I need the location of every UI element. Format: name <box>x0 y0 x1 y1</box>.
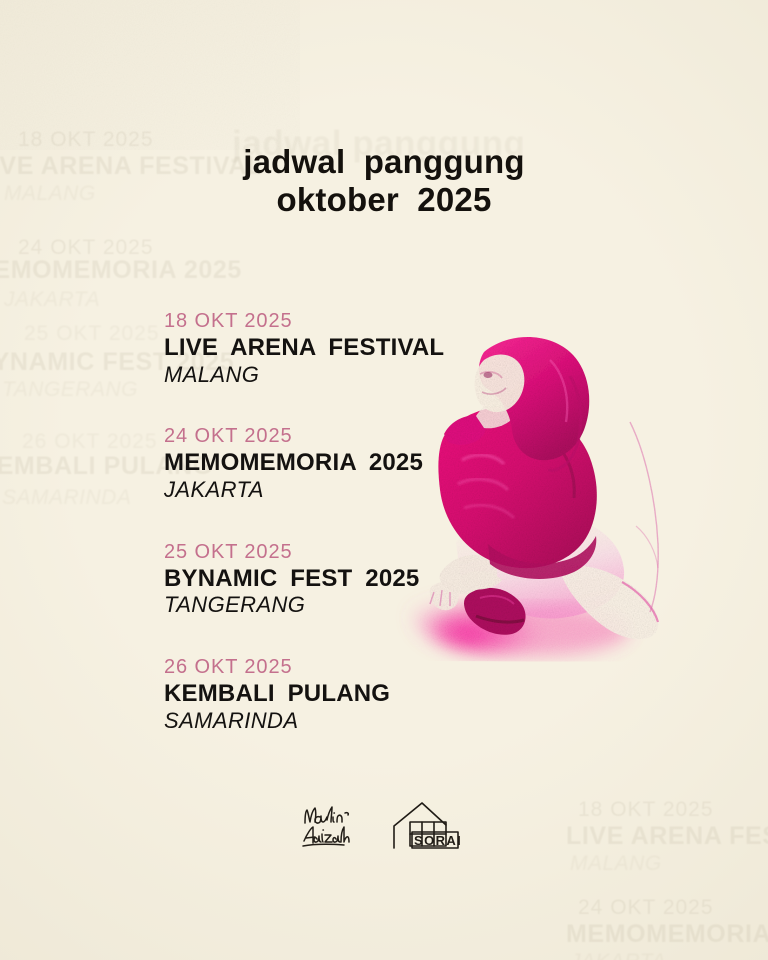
event-city: JAKARTA <box>164 477 684 503</box>
sorai-wordmark: SORAI <box>414 833 462 848</box>
event-date: 24 OKT 2025 <box>164 425 684 449</box>
event-name: BYNAMIC FEST 2025 <box>164 566 684 592</box>
page-title: jadwal panggung oktober 2025 <box>0 143 768 220</box>
paper-grain-texture <box>0 0 300 150</box>
title-line-1: jadwal panggung <box>0 143 768 181</box>
ghost-text: 26 OKT 2025 <box>22 430 158 454</box>
ghost-text: SAMARINDA <box>2 486 131 510</box>
event-item[interactable]: 26 OKT 2025 KEMBALI PULANG SAMARINDA <box>164 656 684 733</box>
title-line-2: oktober 2025 <box>0 181 768 219</box>
ghost-text: MEMOMEMORIA 2025 <box>0 256 242 285</box>
sorai-logo[interactable]: SORAI <box>388 798 468 856</box>
ghost-text: TANGERANG <box>2 378 138 402</box>
footer-logos: SORAI <box>0 798 768 856</box>
ghost-text: MEMOMEMORIA 2025 <box>566 920 768 949</box>
event-name: MEMOMEMORIA 2025 <box>164 450 684 476</box>
sorai-house-icon: SORAI <box>388 798 468 856</box>
ghost-text: 24 OKT 2025 <box>578 896 714 920</box>
event-item[interactable]: 18 OKT 2025 LIVE ARENA FESTIVAL MALANG <box>164 310 684 387</box>
ghost-text: 25 OKT 2025 <box>24 322 160 346</box>
event-item[interactable]: 25 OKT 2025 BYNAMIC FEST 2025 TANGERANG <box>164 541 684 618</box>
signature-logo[interactable] <box>300 801 354 853</box>
event-date: 18 OKT 2025 <box>164 310 684 334</box>
event-city: TANGERANG <box>164 592 684 618</box>
event-name: KEMBALI PULANG <box>164 681 684 707</box>
event-date: 26 OKT 2025 <box>164 656 684 680</box>
ghost-text: 24 OKT 2025 <box>18 236 154 260</box>
event-city: SAMARINDA <box>164 708 684 734</box>
ghost-text: JAKARTA <box>4 288 100 312</box>
event-city: MALANG <box>164 362 684 388</box>
ghost-text: JAKARTA <box>570 950 666 960</box>
event-list: 18 OKT 2025 LIVE ARENA FESTIVAL MALANG 2… <box>164 310 684 734</box>
poster-canvas: jadwal panggung18 OKT 2025LIVE ARENA FES… <box>0 0 768 960</box>
event-item[interactable]: 24 OKT 2025 MEMOMEMORIA 2025 JAKARTA <box>164 425 684 502</box>
event-date: 25 OKT 2025 <box>164 541 684 565</box>
event-name: LIVE ARENA FESTIVAL <box>164 335 684 361</box>
nadin-amizah-signature-icon <box>300 801 354 853</box>
